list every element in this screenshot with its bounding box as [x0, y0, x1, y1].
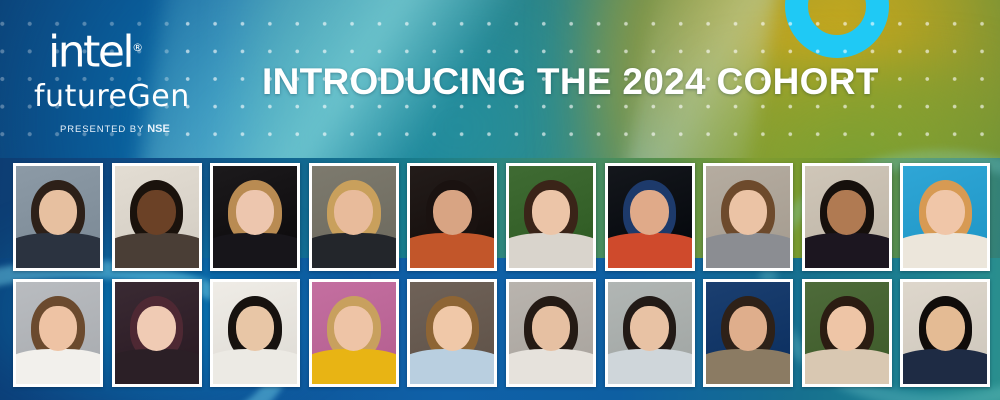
intel-wordmark: intel: [48, 27, 132, 78]
cohort-photo-cell: [309, 163, 399, 271]
photo-shoulders: [13, 233, 103, 268]
cohort-photo-5: [407, 163, 497, 271]
cohort-photo-6: [506, 163, 596, 271]
page-title: INTRODUCING THE 2024 COHORT: [262, 62, 879, 102]
photo-shoulders: [506, 233, 596, 268]
cohort-photo-cell: [407, 163, 497, 271]
cohort-photo-cell: [703, 163, 793, 271]
registered-trademark-icon: ®: [132, 41, 143, 54]
photo-shoulders: [900, 349, 990, 384]
cohort-photo-cell: [309, 279, 399, 387]
brand-lockup: intel® futureGen PRESENTED BYNSE: [0, 0, 196, 160]
cohort-photo-2: [112, 163, 202, 271]
cohort-photo-cell: [802, 279, 892, 387]
cohort-photo-cell: [605, 163, 695, 271]
photo-shoulders: [210, 349, 300, 384]
photo-shoulders: [703, 233, 793, 268]
photo-shoulders: [703, 349, 793, 384]
photo-shoulders: [407, 349, 497, 384]
photo-face: [926, 190, 965, 235]
cohort-photo-1: [13, 163, 103, 271]
futuregen-cohort-banner: intel® futureGen PRESENTED BYNSE INTRODU…: [0, 0, 1000, 400]
cohort-photo-cell: [506, 279, 596, 387]
cohort-photo-19: [802, 279, 892, 387]
photo-face: [433, 306, 472, 351]
cohort-photo-16: [506, 279, 596, 387]
cohort-photo-17: [605, 279, 695, 387]
cohort-photo-8: [703, 163, 793, 271]
cohort-photo-15: [407, 279, 497, 387]
photo-shoulders: [900, 233, 990, 268]
photo-shoulders: [802, 349, 892, 384]
cohort-photo-7: [605, 163, 695, 271]
cohort-photo-20: [900, 279, 990, 387]
presented-by-line: PRESENTED BYNSE: [60, 123, 170, 135]
cohort-photo-cell: [112, 279, 202, 387]
cohort-photo-cell: [13, 279, 103, 387]
photo-shoulders: [309, 233, 399, 268]
photo-shoulders: [210, 233, 300, 268]
photo-shoulders: [802, 233, 892, 268]
cohort-photo-18: [703, 279, 793, 387]
cohort-photo-cell: [900, 279, 990, 387]
cohort-photo-cell: [900, 163, 990, 271]
cohort-photo-cell: [605, 279, 695, 387]
photo-shoulders: [605, 349, 695, 384]
nse-wordmark: NSE: [147, 123, 170, 135]
cohort-photo-14: [309, 279, 399, 387]
cohort-photo-9: [802, 163, 892, 271]
photo-shoulders: [506, 349, 596, 384]
photo-shoulders: [407, 233, 497, 268]
intel-logo: intel®: [48, 26, 143, 75]
cohort-photo-13: [210, 279, 300, 387]
cohort-photo-cell: [13, 163, 103, 271]
cohort-photo-cell: [210, 163, 300, 271]
presented-by-label: PRESENTED BY: [60, 124, 144, 135]
cohort-photo-cell: [802, 163, 892, 271]
photo-shoulders: [309, 349, 399, 384]
photo-shoulders: [112, 233, 202, 268]
cohort-photo-cell: [506, 163, 596, 271]
cohort-photo-4: [309, 163, 399, 271]
cohort-photo-cell: [407, 279, 497, 387]
photo-shoulders: [13, 349, 103, 384]
futuregen-wordmark: futureGen: [34, 82, 190, 112]
cohort-photo-3: [210, 163, 300, 271]
cohort-photo-10: [900, 163, 990, 271]
photo-shoulders: [112, 349, 202, 384]
cohort-photo-grid: [0, 158, 1000, 400]
photo-face: [926, 306, 965, 351]
cohort-photo-cell: [703, 279, 793, 387]
cohort-photo-11: [13, 279, 103, 387]
cohort-photo-12: [112, 279, 202, 387]
photo-face: [433, 190, 472, 235]
cohort-photo-cell: [210, 279, 300, 387]
cohort-photo-cell: [112, 163, 202, 271]
photo-shoulders: [605, 233, 695, 268]
